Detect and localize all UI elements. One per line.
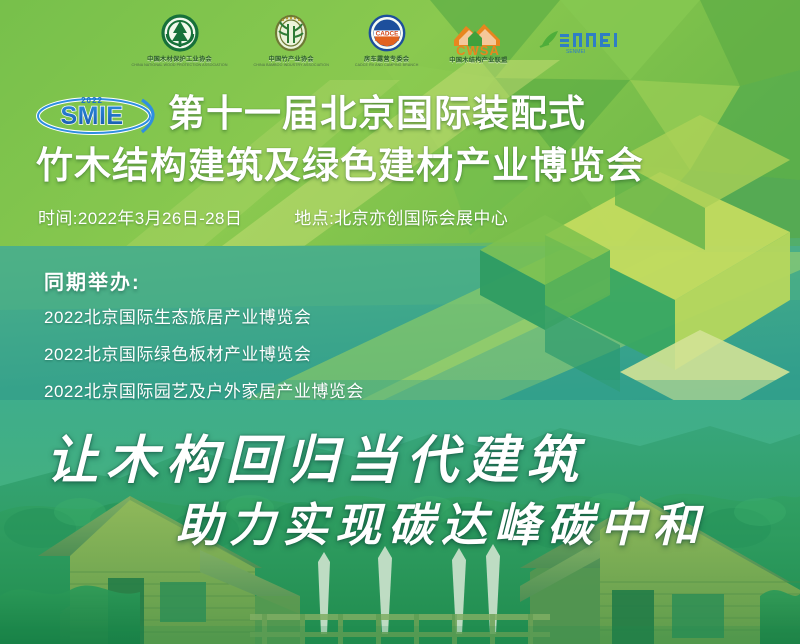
sponsor-logo-3[interactable]: CWSA 中国木结构产业联盟 <box>444 16 512 65</box>
sponsor-logo-2[interactable]: CADCE 房车露营专委会 CADCE RV AND CAMPING BRANC… <box>355 13 419 68</box>
concurrent-events-heading: 同期举办: <box>44 266 364 295</box>
smie-ellipse-logo: SMIE 2022 <box>34 90 162 138</box>
concurrent-event-item: 2022北京国际园艺及户外家居产业博览会 <box>44 383 364 400</box>
sponsor-logo-0[interactable]: 中国木材保护工业协会 CHINA NATIONAL WOOD PROTECTIO… <box>132 13 228 68</box>
bamboo-oval-emblem-icon <box>270 13 312 57</box>
sponsor-logo-4[interactable]: SENMEI <box>538 25 630 55</box>
exhibition-poster: 中国木材保护工业协会 CHINA NATIONAL WOOD PROTECTIO… <box>0 0 800 644</box>
concurrent-events-list: 2022北京国际生态旅居产业博览会 2022北京国际绿色板材产业博览会 2022… <box>44 309 364 400</box>
svg-text:2022: 2022 <box>81 96 103 105</box>
slogan-line-2: 助力实现碳达峰碳中和 <box>176 489 706 555</box>
svg-text:SMIE: SMIE <box>60 102 123 130</box>
title-line-2: 竹木结构建筑及绿色建材产业博览会 <box>0 142 800 190</box>
slogan-line-1: 让木构回归当代建筑 <box>46 418 586 493</box>
concurrent-event-item: 2022北京国际绿色板材产业博览会 <box>44 346 364 363</box>
sponsor-logo-3-label: 中国木结构产业联盟 <box>449 58 507 65</box>
svg-text:CADCE: CADCE <box>375 30 398 37</box>
event-meta: 时间:2022年3月26日-28日 地点:北京亦创国际会展中心 <box>38 204 508 229</box>
senmei-leaf-wordmark-icon: SENMEI <box>538 25 630 55</box>
event-venue: 地点:北京亦创国际会展中心 <box>294 204 508 229</box>
concurrent-event-item: 2022北京国际生态旅居产业博览会 <box>44 309 364 326</box>
event-date: 时间:2022年3月26日-28日 <box>38 204 242 229</box>
cwsa-house-emblem-icon: CWSA <box>444 16 512 58</box>
sponsor-logo-1[interactable]: 中国竹产业协会 CHINA BAMBOO INDUSTRY ASSOCIATIO… <box>254 13 329 68</box>
sponsor-logo-0-sub: CHINA NATIONAL WOOD PROTECTION ASSOCIATI… <box>132 63 228 67</box>
sponsor-logo-strip: 中国木材保护工业协会 CHINA NATIONAL WOOD PROTECTIO… <box>0 0 800 80</box>
svg-text:SENMEI: SENMEI <box>566 49 585 55</box>
svg-text:CWSA: CWSA <box>457 43 501 58</box>
concurrent-events-block: 同期举办: 2022北京国际生态旅居产业博览会 2022北京国际绿色板材产业博览… <box>44 266 364 400</box>
headline-block: SMIE 2022 第十一届北京国际装配式 竹木结构建筑及绿色建材产业博览会 <box>0 88 800 190</box>
tree-shield-emblem-icon <box>157 13 203 57</box>
title-line-1: 第十一届北京国际装配式 <box>168 90 586 138</box>
sponsor-logo-2-sub: CADCE RV AND CAMPING BRANCH <box>355 63 419 67</box>
cadce-round-emblem-icon: CADCE <box>365 13 409 57</box>
sponsor-logo-1-sub: CHINA BAMBOO INDUSTRY ASSOCIATION <box>254 63 329 67</box>
